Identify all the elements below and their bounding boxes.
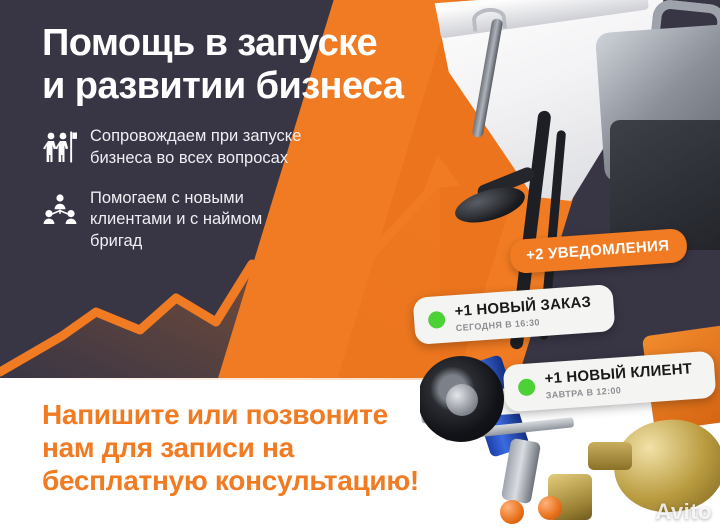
team-hierarchy-icon [40,190,80,228]
headline-line-1: Помощь в запуске [42,22,377,64]
bullet-2-line-3: бригад [90,232,142,250]
bullet-2-line-1: Помогаем с новыми [90,189,244,207]
list-item-label: Сопровождаем при запуске бизнеса во всех… [90,126,301,170]
bullet-1-line-1: Сопровождаем при запуске [90,127,301,145]
product-pump-neck [588,442,632,470]
notification-card-body: +1 НОВЫЙ КЛИЕНТ ЗАВТРА В 12:00 [544,361,693,401]
product-orange-ball [538,496,562,520]
call-to-action: Напишите или позвоните нам для записи на… [42,398,462,497]
list-item: Помогаем с новыми клиентами и с наймом б… [40,188,360,253]
cta-line-1: Напишите или позвоните [42,398,462,431]
status-dot-icon [428,311,446,329]
avito-watermark: Avito [655,499,712,525]
headline-line-2: и развитии бизнеса [42,65,462,108]
page-title: Помощь в запуске и развитии бизнеса [42,22,462,108]
status-dot-icon [518,378,536,396]
bullet-2-line-2: клиентами и с наймом [90,210,262,228]
product-orange-ball [500,500,524,524]
promo-banner: Помощь в запуске и развитии бизнеса Сопр… [0,0,720,529]
benefits-list: Сопровождаем при запуске бизнеса во всех… [40,126,360,271]
list-item-label: Помогаем с новыми клиентами и с наймом б… [90,188,262,253]
notification-card-body: +1 НОВЫЙ ЗАКАЗ СЕГОДНЯ В 16:30 [454,295,592,334]
cta-line-2: нам для записи на [42,431,462,464]
list-item: Сопровождаем при запуске бизнеса во всех… [40,126,360,170]
bullet-1-line-2: бизнеса во всех вопросах [90,149,288,167]
cta-line-3: бесплатную консультацию! [42,464,462,497]
people-flag-icon [40,128,80,166]
